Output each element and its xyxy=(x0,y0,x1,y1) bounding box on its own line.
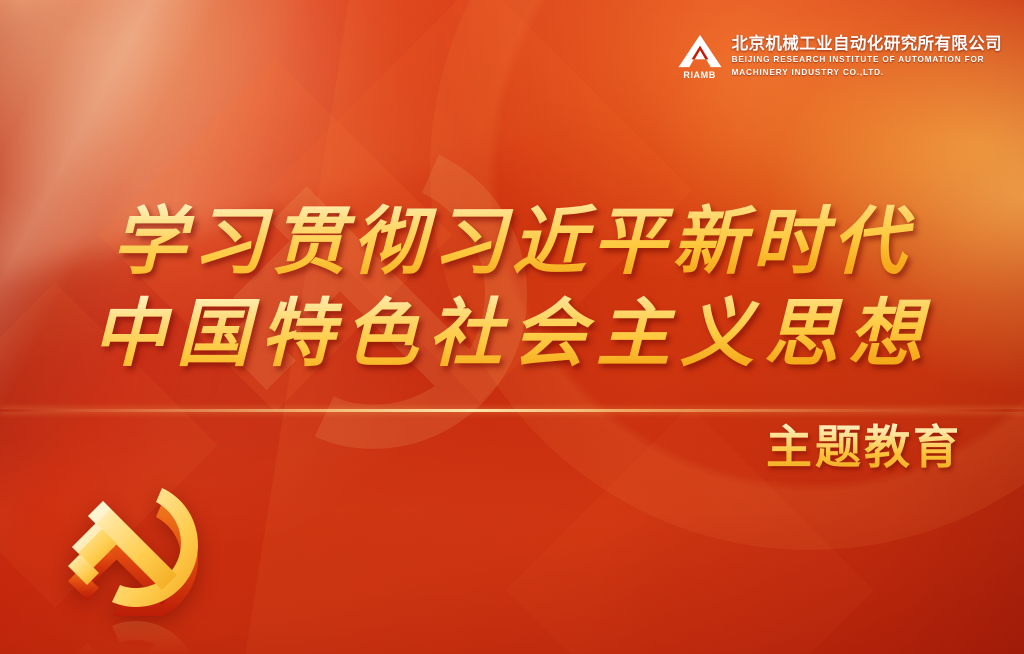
company-name-en-line2: MACHINERY INDUSTRY CO.,LTD. xyxy=(732,68,1002,79)
company-name-en-line1: BEIJING RESEARCH INSTITUTE OF AUTOMATION… xyxy=(732,55,1002,66)
emblem-reflection xyxy=(58,612,218,654)
poster-canvas: RIAMB 北京机械工业自动化研究所有限公司 BEIJING RESEARCH … xyxy=(0,0,1024,654)
riamb-abbreviation: RIAMB xyxy=(677,70,723,81)
subtitle-text: 主题教育 xyxy=(766,420,962,474)
watermark-diamond-4 xyxy=(506,406,874,654)
company-name-cn: 北京机械工业自动化研究所有限公司 xyxy=(732,34,1002,53)
cpc-hammer-and-sickle-emblem-icon xyxy=(58,476,218,616)
company-name-group: 北京机械工业自动化研究所有限公司 BEIJING RESEARCH INSTIT… xyxy=(732,33,1002,78)
riamb-triangle-logo-icon: RIAMB xyxy=(677,33,723,81)
company-logo-block: RIAMB 北京机械工业自动化研究所有限公司 BEIJING RESEARCH … xyxy=(677,33,1002,81)
